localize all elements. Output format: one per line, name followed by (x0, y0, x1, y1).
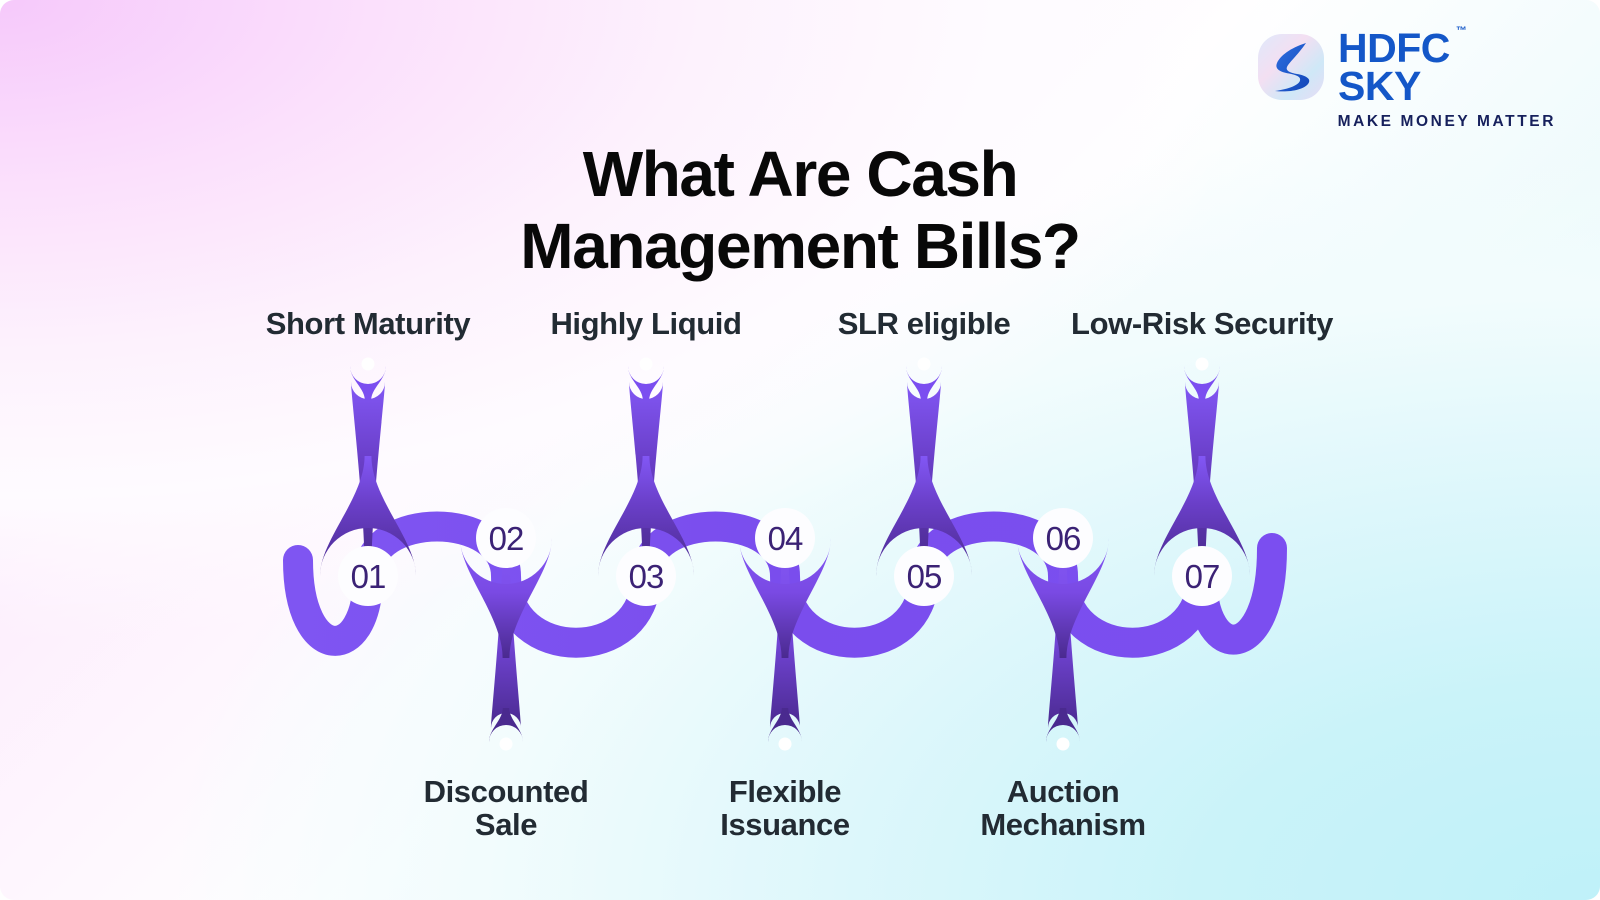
step-label-06: Auction Mechanism (980, 775, 1145, 841)
marker-05[interactable]: 05 (876, 358, 972, 607)
step-label-03: Highly Liquid (550, 307, 741, 340)
infographic-canvas: HDFC SKY ™ MAKE MONEY MATTER What Are Ca… (0, 0, 1600, 900)
marker-number: 02 (489, 520, 524, 557)
marker-07[interactable]: 07 (1154, 358, 1250, 607)
wave-svg: 01020304050607 (0, 0, 1600, 900)
step-label-01: Short Maturity (266, 307, 471, 340)
step-label-02: Discounted Sale (424, 775, 589, 841)
marker-number: 06 (1046, 520, 1081, 557)
marker-group: 01020304050607 (320, 358, 1250, 751)
marker-number: 07 (1185, 558, 1220, 595)
process-wave-diagram: 01020304050607 Short MaturityDiscounted … (0, 0, 1600, 900)
marker-number: 03 (629, 558, 664, 595)
marker-01[interactable]: 01 (320, 358, 416, 607)
marker-tip-dot (500, 738, 513, 751)
marker-tip-dot (640, 358, 653, 371)
marker-number: 05 (907, 558, 942, 595)
marker-03[interactable]: 03 (598, 358, 694, 607)
step-label-04: Flexible Issuance (720, 775, 850, 841)
marker-tip-dot (779, 738, 792, 751)
step-label-05: SLR eligible (838, 307, 1011, 340)
marker-number: 04 (768, 520, 803, 557)
marker-tip-dot (918, 358, 931, 371)
step-label-07: Low-Risk Security (1071, 307, 1333, 340)
marker-number: 01 (351, 558, 386, 595)
marker-tip-dot (362, 358, 375, 371)
marker-tip-dot (1196, 358, 1209, 371)
marker-tip-dot (1057, 738, 1070, 751)
